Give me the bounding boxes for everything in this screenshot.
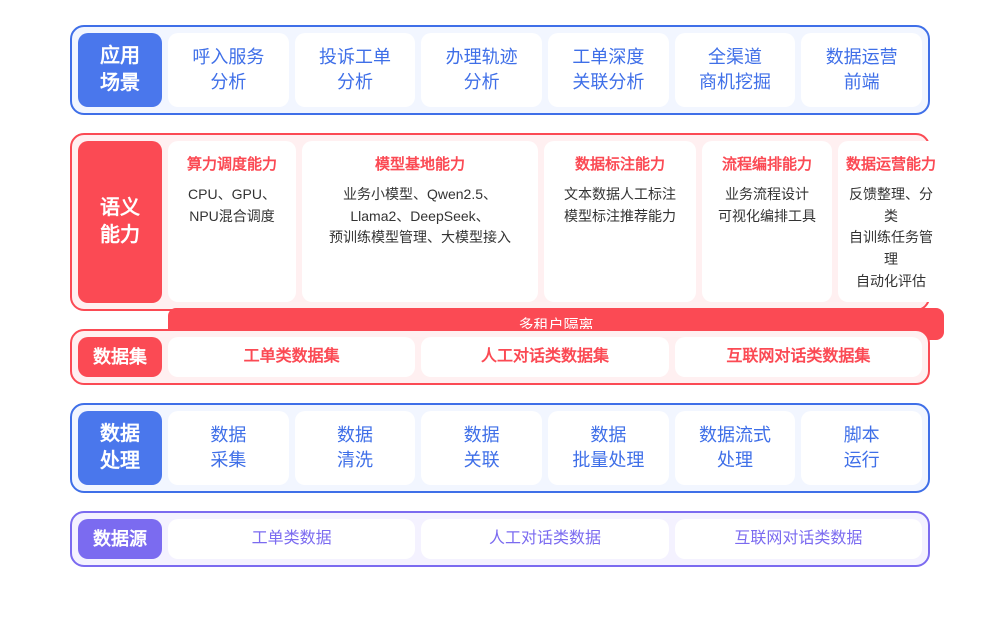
- semantic-card-title: 数据运营能力: [846, 153, 936, 174]
- semantic-card-body: 业务小模型、Qwen2.5、 Llama2、DeepSeek、 预训练模型管理、…: [329, 184, 511, 249]
- data-processing-card-4[interactable]: 数据流式 处理: [675, 411, 796, 485]
- semantic-card-body: 反馈整理、分类 自训练任务管理 自动化评估: [846, 184, 936, 292]
- data-source-card-1[interactable]: 人工对话类数据: [421, 519, 668, 559]
- semantic-card-body: 业务流程设计 可视化编排工具: [718, 184, 816, 227]
- data-processing-card-2[interactable]: 数据 关联: [421, 411, 542, 485]
- semantic-card-data-annotation[interactable]: 数据标注能力 文本数据人工标注 模型标注推荐能力: [544, 141, 696, 302]
- semantic-capability-badge: 语义 能力: [78, 141, 162, 303]
- data-processing-card-1[interactable]: 数据 清洗: [295, 411, 416, 485]
- semantic-card-body: 文本数据人工标注 模型标注推荐能力: [564, 184, 676, 227]
- architecture-diagram: 应用 场景 呼入服务 分析 投诉工单 分析 办理轨迹 分析 工单深度 关联分析 …: [0, 0, 1000, 620]
- dataset-card-0[interactable]: 工单类数据集: [168, 337, 415, 377]
- semantic-card-process-orchestration[interactable]: 流程编排能力 业务流程设计 可视化编排工具: [702, 141, 832, 302]
- application-scenario-row: 应用 场景 呼入服务 分析 投诉工单 分析 办理轨迹 分析 工单深度 关联分析 …: [70, 25, 930, 115]
- dataset-badge: 数据集: [78, 337, 162, 377]
- semantic-capability-cards: 算力调度能力 CPU、GPU、 NPU混合调度 模型基地能力 业务小模型、Qwe…: [168, 141, 944, 302]
- dataset-card-2[interactable]: 互联网对话类数据集: [675, 337, 922, 377]
- semantic-card-title: 模型基地能力: [375, 153, 465, 174]
- data-processing-card-3[interactable]: 数据 批量处理: [548, 411, 669, 485]
- dataset-card-1[interactable]: 人工对话类数据集: [421, 337, 668, 377]
- application-scenario-card-3[interactable]: 工单深度 关联分析: [548, 33, 669, 107]
- semantic-capability-row: 语义 能力 算力调度能力 CPU、GPU、 NPU混合调度 模型基地能力 业务小…: [70, 133, 930, 311]
- data-processing-badge: 数据 处理: [78, 411, 162, 485]
- data-processing-card-5[interactable]: 脚本 运行: [801, 411, 922, 485]
- application-scenario-card-1[interactable]: 投诉工单 分析: [295, 33, 416, 107]
- data-source-badge: 数据源: [78, 519, 162, 559]
- semantic-card-title: 算力调度能力: [187, 153, 277, 174]
- data-processing-row: 数据 处理 数据 采集 数据 清洗 数据 关联 数据 批量处理 数据流式 处理 …: [70, 403, 930, 493]
- semantic-card-title: 数据标注能力: [575, 153, 665, 174]
- semantic-card-model-base[interactable]: 模型基地能力 业务小模型、Qwen2.5、 Llama2、DeepSeek、 预…: [302, 141, 538, 302]
- application-scenario-card-0[interactable]: 呼入服务 分析: [168, 33, 289, 107]
- semantic-card-compute-scheduling[interactable]: 算力调度能力 CPU、GPU、 NPU混合调度: [168, 141, 296, 302]
- application-scenario-card-5[interactable]: 数据运营 前端: [801, 33, 922, 107]
- application-scenario-card-4[interactable]: 全渠道 商机挖掘: [675, 33, 796, 107]
- semantic-card-data-operation[interactable]: 数据运营能力 反馈整理、分类 自训练任务管理 自动化评估: [838, 141, 944, 302]
- data-processing-card-0[interactable]: 数据 采集: [168, 411, 289, 485]
- data-source-card-2[interactable]: 互联网对话类数据: [675, 519, 922, 559]
- semantic-card-body: CPU、GPU、 NPU混合调度: [188, 184, 276, 227]
- application-scenario-badge: 应用 场景: [78, 33, 162, 107]
- dataset-row: 数据集 工单类数据集 人工对话类数据集 互联网对话类数据集: [70, 329, 930, 385]
- data-source-row: 数据源 工单类数据 人工对话类数据 互联网对话类数据: [70, 511, 930, 567]
- semantic-capability-content: 算力调度能力 CPU、GPU、 NPU混合调度 模型基地能力 业务小模型、Qwe…: [168, 141, 944, 303]
- semantic-card-title: 流程编排能力: [722, 153, 812, 174]
- data-source-card-0[interactable]: 工单类数据: [168, 519, 415, 559]
- application-scenario-card-2[interactable]: 办理轨迹 分析: [421, 33, 542, 107]
